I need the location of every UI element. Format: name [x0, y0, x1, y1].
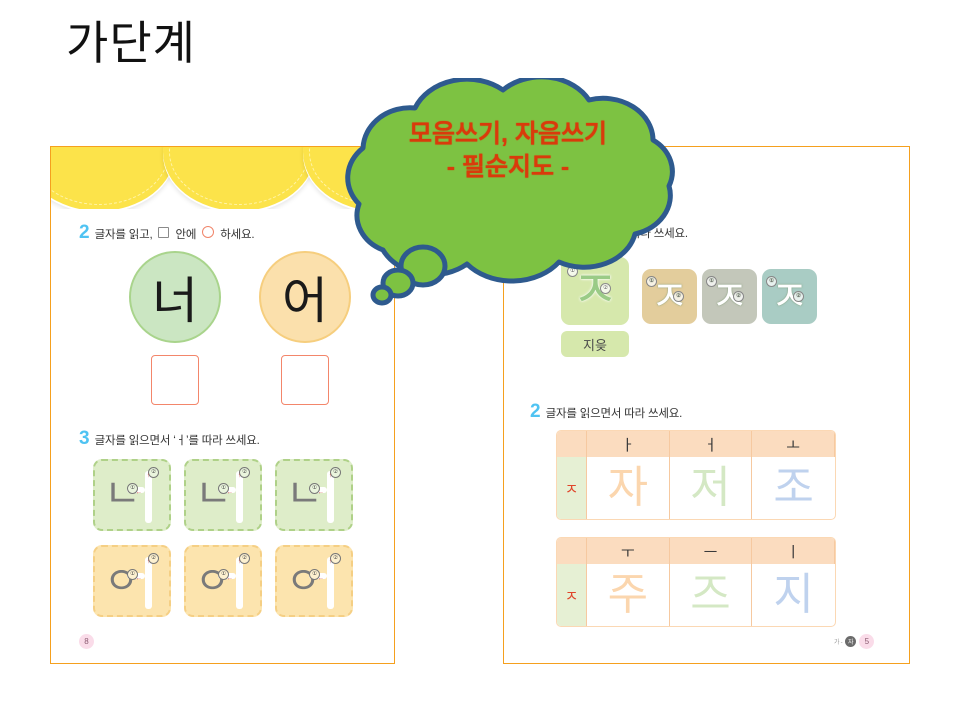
instruction-3-left: 3 글자를 읽으면서 ‘ㅓ’를 따라 쓰세요. [79, 429, 260, 448]
instruction-2-left: 2 글자를 읽고, 안에 하세요. [79, 223, 254, 242]
answer-box-2[interactable] [281, 355, 329, 405]
stroke-order-mark-2: ② [793, 291, 804, 302]
syllable-disc-neo[interactable]: 너 [129, 251, 221, 343]
trace-tile-eo-2[interactable]: ㅇ ② ① ↑ ← [184, 545, 262, 617]
page-number-badge-right: 5 [859, 634, 874, 649]
footer-note: 가 - [834, 637, 842, 646]
arrow-up-icon: ↑ [147, 472, 150, 479]
trace-tile-neo-1[interactable]: ㄴ ② ① ↑ ← [93, 459, 171, 531]
arrow-up-icon: ↑ [147, 558, 150, 565]
instruction-number: 2 [79, 223, 90, 242]
speech-cloud-callout: 모음쓰기, 자음쓰기 - 필순지도 - [243, 78, 773, 313]
arrow-left-icon: ← [227, 489, 234, 496]
square-icon [158, 227, 169, 238]
table-cell-jeo[interactable]: 저 [670, 457, 753, 519]
cloud-line-1: 모음쓰기, 자음쓰기 [243, 118, 773, 151]
instruction-text: 글자를 읽으면서 따라 쓰세요. [546, 405, 683, 421]
syllable-table-2: ㅜ ㅡ ㅣ ㅈ 주 즈 지 [556, 537, 836, 627]
arrow-left-icon: ← [318, 575, 325, 582]
table-cell-ja[interactable]: 자 [587, 457, 670, 519]
table-header-vowel-eo: ㅓ [670, 431, 753, 457]
cloud-line-2: - 필순지도 - [243, 151, 773, 184]
arrow-left-icon: ← [136, 575, 143, 582]
table-header-corner [557, 538, 587, 564]
answer-box-1[interactable] [151, 355, 199, 405]
table-lead-consonant: ㅈ [557, 457, 587, 519]
table-cell-jeu[interactable]: 즈 [670, 564, 753, 626]
syllable-table-1: ㅏ ㅓ ㅗ ㅈ 자 저 조 [556, 430, 836, 520]
instruction-number: 2 [530, 402, 541, 421]
cloud-text-block: 모음쓰기, 자음쓰기 - 필순지도 - [243, 118, 773, 184]
trace-tile-neo-3[interactable]: ㄴ ② ① ↑ ← [275, 459, 353, 531]
trace-tile-neo-2[interactable]: ㄴ ② ① ↑ ← [184, 459, 262, 531]
syllable-text: 너 [152, 261, 198, 333]
consonant-name-label: 지읒 [561, 331, 629, 357]
instruction-number: 3 [79, 429, 90, 448]
arrow-left-icon: ← [136, 489, 143, 496]
instruction-text-a: 글자를 읽고, [95, 226, 153, 242]
table-header-vowel-o: ㅗ [752, 431, 835, 457]
instruction-text-b: 안에 [175, 226, 196, 242]
table-cell-jo[interactable]: 조 [752, 457, 835, 519]
instruction-text: 글자를 읽으면서 ‘ㅓ’를 따라 쓰세요. [95, 432, 260, 448]
table-header-vowel-a: ㅏ [587, 431, 670, 457]
footer-dark-badge: 자 [845, 636, 856, 647]
table-lead-consonant: ㅈ [557, 564, 587, 626]
trace-tile-eo-3[interactable]: ㅇ ② ① ↑ ← [275, 545, 353, 617]
table-header-vowel-u: ㅜ [587, 538, 670, 564]
arrow-up-icon: ↑ [329, 472, 332, 479]
table-cell-ji[interactable]: 지 [752, 564, 835, 626]
arrow-up-icon: ↑ [329, 558, 332, 565]
page-number-badge-left: 8 [79, 634, 94, 649]
arrow-left-icon: ← [227, 575, 234, 582]
page-footer-right: 가 - 자 5 [834, 634, 874, 649]
table-header-vowel-i: ㅣ [752, 538, 835, 564]
table-cell-ju[interactable]: 주 [587, 564, 670, 626]
page-title: 가단계 [66, 20, 196, 66]
circle-icon [202, 226, 214, 238]
table-header-vowel-eu: ㅡ [670, 538, 753, 564]
arrow-up-icon: ↑ [238, 558, 241, 565]
arrow-left-icon: ← [318, 489, 325, 496]
trace-tile-eo-1[interactable]: ㅇ ② ① ↑ ← [93, 545, 171, 617]
instruction-2-right: 2 글자를 읽으면서 따라 쓰세요. [530, 402, 682, 421]
table-header-corner [557, 431, 587, 457]
cloud-shape [243, 78, 773, 313]
slide-canvas: 가단계 2 글자를 읽고, 안에 하세요. 너 어 3 글자를 읽으면서 ‘ㅓ’ [0, 0, 960, 720]
arrow-up-icon: ↑ [238, 472, 241, 479]
